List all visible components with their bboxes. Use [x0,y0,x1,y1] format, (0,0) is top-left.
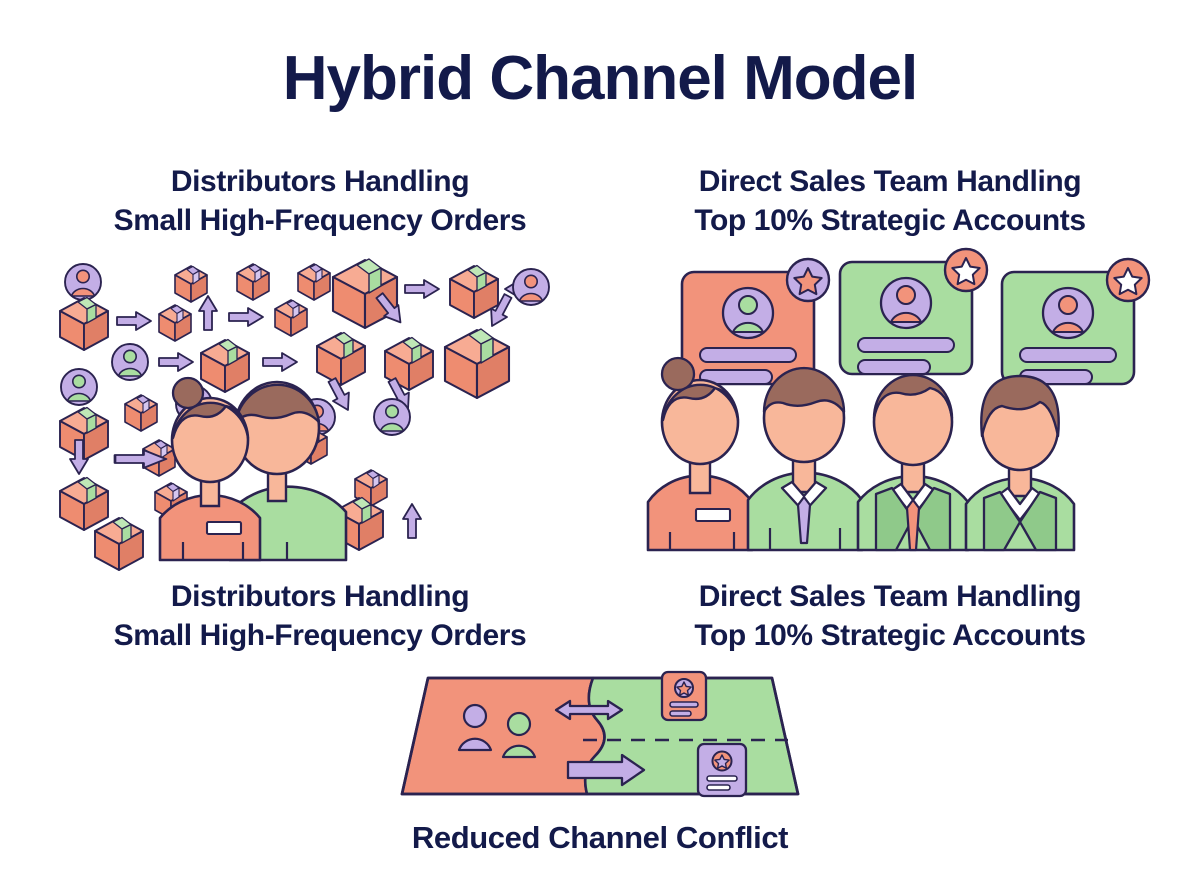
left-heading-bottom-line2: Small High-Frequency Orders [20,616,620,655]
sales-person [648,358,752,550]
avatar-icon [374,399,410,435]
left-panel-heading-top: Distributors Handling Small High-Frequen… [20,162,620,240]
package-icon [60,478,108,531]
arrow-icon [405,280,439,298]
package-icon [445,329,509,398]
package-icon [60,408,108,461]
arrow-icon [229,308,263,326]
avatar-icon [513,269,549,305]
right-panel-heading-top: Direct Sales Team Handling Top 10% Strat… [600,162,1180,240]
arrow-icon [199,296,217,330]
package-icon [60,298,108,351]
account-card [840,249,987,374]
avatar-icon [65,264,101,300]
package-icon [275,300,307,336]
arrow-icon [159,353,193,371]
right-heading-top-line2: Top 10% Strategic Accounts [600,201,1180,240]
account-card [682,259,829,384]
account-card [1002,259,1149,384]
arrow-icon [117,312,151,330]
left-panel-heading-bottom: Distributors Handling Small High-Frequen… [20,577,620,655]
avatar-icon [61,369,97,405]
arrow-icon [403,504,421,538]
package-icon [159,305,191,341]
sales-person [748,368,862,550]
right-heading-bottom-line1: Direct Sales Team Handling [699,580,1082,613]
package-icon [317,333,365,386]
sales-team-accounts-illustration [630,250,1150,550]
left-heading-bottom-line1: Distributors Handling [171,580,469,613]
left-heading-top-line2: Small High-Frequency Orders [20,201,620,240]
right-panel-heading-bottom: Direct Sales Team Handling Top 10% Strat… [600,577,1180,655]
right-heading-top-line1: Direct Sales Team Handling [699,165,1082,198]
arrow-icon [263,353,297,371]
package-icon [201,340,249,393]
account-card [698,744,746,796]
page-title: Hybrid Channel Model [0,46,1200,111]
avatar-icon [112,344,148,380]
package-icon [298,264,330,300]
infographic-canvas: Hybrid Channel Model Distributors Handli… [0,0,1200,896]
package-icon [175,266,207,302]
sales-person [858,375,968,550]
sales-person [966,376,1074,550]
account-card [662,672,706,720]
star-badge-icon [787,259,829,301]
package-icon [125,395,157,431]
package-icon [237,264,269,300]
distributor-packages-illustration [55,250,575,560]
bottom-caption: Reduced Channel Conflict [0,820,1200,856]
right-heading-bottom-line2: Top 10% Strategic Accounts [600,616,1180,655]
star-badge-icon [945,249,987,291]
package-icon [95,518,143,571]
territory-split-illustration [380,662,820,822]
star-badge-icon [1107,259,1149,301]
left-heading-top-line1: Distributors Handling [171,165,469,198]
